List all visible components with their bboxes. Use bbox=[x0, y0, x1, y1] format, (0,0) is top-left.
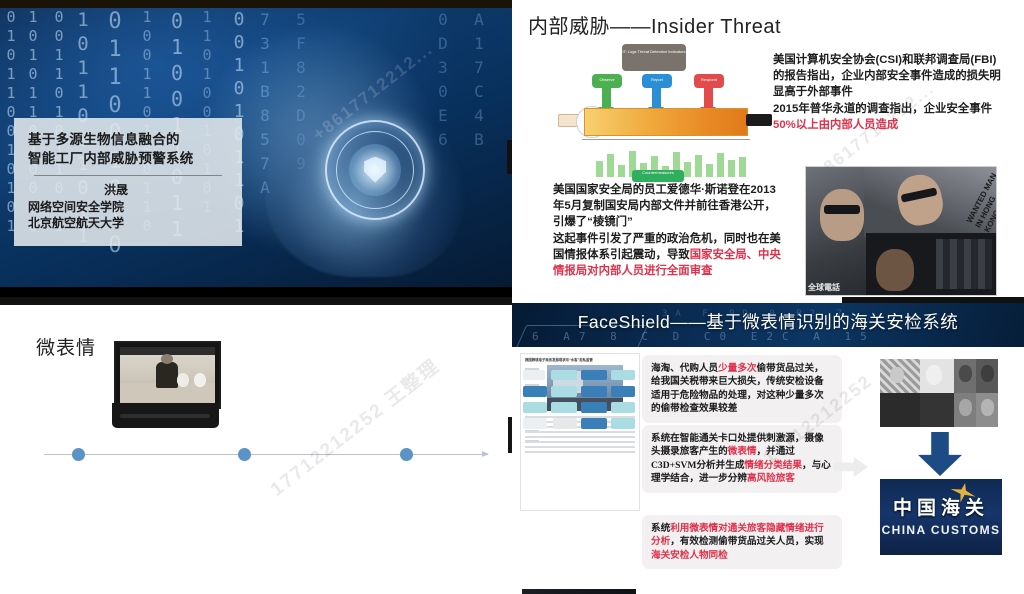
bubble1-plain-1: 海淘、代购人员 bbox=[651, 363, 718, 374]
heading-cn: 基于微表情识别的海关安检系统 bbox=[706, 312, 958, 332]
para2-plain-1: 美国国家安全局的员工爱德华·斯诺登在2013年5月复制国安局内部文件并前往香港公… bbox=[553, 184, 776, 228]
slide-heading: 微表情 bbox=[36, 333, 96, 360]
heading-en: Insider Threat bbox=[651, 16, 781, 38]
top-letterbox-bar bbox=[0, 297, 512, 305]
slide-title[interactable]: 0 1 0 1 1 0 0 1 0 1 0 1 1 0 1 0 1 1 0 1 … bbox=[0, 0, 512, 297]
slide-heading: 内部威胁——Insider Threat bbox=[528, 10, 781, 39]
bubble2-highlight: 微表情 bbox=[728, 446, 757, 457]
bubble2-highlight-2: 情绪分类结果 bbox=[744, 460, 802, 471]
diagram-stem-green bbox=[602, 85, 611, 109]
diagram-stem-red bbox=[704, 85, 713, 109]
slide-micro-expression[interactable]: 微表情 审讯刑侦 微表情识别在侦查讯问 bbox=[0, 297, 512, 594]
insider-threat-diagram: IT: Logs Threat Detection Indicators Obs… bbox=[554, 44, 774, 179]
shield-icon bbox=[364, 157, 386, 183]
bubble3-plain-1: 系统 bbox=[651, 523, 670, 534]
security-hologram-icon bbox=[325, 120, 425, 220]
customs-sign-cn: 中国海关 bbox=[880, 493, 1002, 520]
paragraph-csi-fbi: 美国计算机安全协会(CSI)和联邦调查局(FBI)的报告指出，企业内部安全事件造… bbox=[773, 52, 1001, 133]
diagram-timeline-bar bbox=[584, 108, 748, 136]
author-name: 洪晟 bbox=[28, 182, 228, 199]
slide-insider-threat[interactable]: 内部威胁——Insider Threat IT: Logs Threat Det… bbox=[512, 0, 1024, 297]
subject-figure bbox=[156, 362, 178, 388]
timeline-node-1[interactable] bbox=[72, 448, 85, 461]
slide-grid: 0 1 0 1 1 0 0 1 0 1 0 1 1 0 1 0 1 1 0 1 … bbox=[0, 0, 1024, 594]
document-title: 我国跨境电子商务发展现状与“水客”走私监管 bbox=[525, 357, 635, 362]
bubble-problem: 海淘、代购人员少量多次偷带货品过关，给我国关税带来巨大损失，传统安检设备适用于危… bbox=[642, 355, 842, 423]
heading-en: FaceShield bbox=[578, 312, 671, 332]
bubble-method: 系统在智能通关卡口处提供刺激源，摄像头摄录旅客产生的微表情，并通过C3D+SVM… bbox=[642, 425, 842, 493]
heading-dash: —— bbox=[610, 16, 651, 38]
title-divider bbox=[34, 175, 222, 176]
title-line-2: 智能工厂内部威胁预警系统 bbox=[28, 149, 228, 168]
diagram-end-label bbox=[746, 114, 772, 126]
para1-plain-1: 美国计算机安全协会(CSI)和联邦调查局(FBI)的报告指出，企业内部安全事件造… bbox=[773, 54, 1001, 98]
down-arrow-icon bbox=[918, 432, 962, 476]
para1-plain-2: 2015年普华永道的调查指出，企业安全事件 bbox=[773, 103, 992, 115]
timeline-node-2[interactable] bbox=[238, 448, 251, 461]
diagram-timeline-axis bbox=[582, 139, 750, 140]
diagram-bottom-box: Countermeasures bbox=[632, 170, 684, 182]
top-letterbox-bar bbox=[0, 0, 512, 8]
heading-dash: —— bbox=[670, 312, 706, 332]
interrogation-room-frame bbox=[120, 347, 215, 403]
hex-rain-column: A 1 7 C 4 B bbox=[466, 8, 492, 287]
laptop-screen bbox=[114, 341, 221, 409]
para1-highlight: 50%以上由内部人员造成 bbox=[773, 119, 898, 131]
slide-faceshield[interactable]: 6 A7 8 C D C0 E2C A 15 3A F 9D 0 B2 7 Fa… bbox=[512, 297, 1024, 594]
timeline-axis bbox=[44, 454, 488, 455]
timeline-node-3[interactable] bbox=[400, 448, 413, 461]
title-line-1: 基于多源生物信息融合的 bbox=[28, 130, 228, 149]
china-customs-sign-photo: 中国海关 CHINA CUSTOMS bbox=[880, 479, 1002, 555]
bubble1-highlight: 少量多次 bbox=[718, 363, 756, 374]
bubble-outcome: 系统利用微表情对通关旅客隐藏情绪进行分析，有效检测偷带货品过关人员，实现海关安检… bbox=[642, 515, 842, 569]
diagram-stem-blue bbox=[652, 85, 661, 109]
laptop-base bbox=[112, 403, 219, 428]
slide-heading: FaceShield——基于微表情识别的海关安检系统 bbox=[512, 309, 1024, 334]
interrogation-video-laptop bbox=[112, 341, 219, 431]
snowden-news-photo: WANTED MAN IN HONG KONG 全球電話 bbox=[805, 166, 997, 296]
customs-sign-en: CHINA CUSTOMS bbox=[880, 523, 1002, 537]
affiliation-line-2: 北京航空航天大学 bbox=[28, 215, 228, 232]
research-document-thumbnail: 我国跨境电子商务发展现状与“水客”走私监管 bbox=[520, 353, 640, 511]
face-analysis-montage bbox=[880, 359, 998, 427]
bubble3-plain-2: ，有效检测偷带货品过关人员，实现 bbox=[670, 536, 824, 547]
operator-workstation-photo: 中华人民共和国管控通道 bbox=[522, 589, 636, 594]
bottom-letterbox-bar bbox=[0, 287, 512, 297]
bubble2-highlight-3: 高风险旅客 bbox=[747, 473, 795, 484]
affiliation-line-1: 网络空间安全学院 bbox=[28, 199, 228, 216]
watermark: 17712212252 王整理 bbox=[264, 352, 445, 502]
title-card: 基于多源生物信息融合的 智能工厂内部威胁预警系统 洪晟 网络空间安全学院 北京航… bbox=[14, 118, 242, 246]
diagram-top-box: IT: Logs Threat Detection Indicators bbox=[622, 44, 686, 71]
paragraph-snowden: 美国国家安全局的员工爱德华·斯诺登在2013年5月复制国安局内部文件并前往香港公… bbox=[553, 182, 785, 279]
bubble3-highlight-2: 海关安检人物同检 bbox=[651, 550, 728, 561]
left-reference-column: 我国跨境电子商务发展现状与“水客”走私监管 bbox=[520, 353, 638, 511]
heading-cn: 内部威胁 bbox=[528, 16, 610, 38]
methodology-flowchart bbox=[521, 368, 639, 440]
